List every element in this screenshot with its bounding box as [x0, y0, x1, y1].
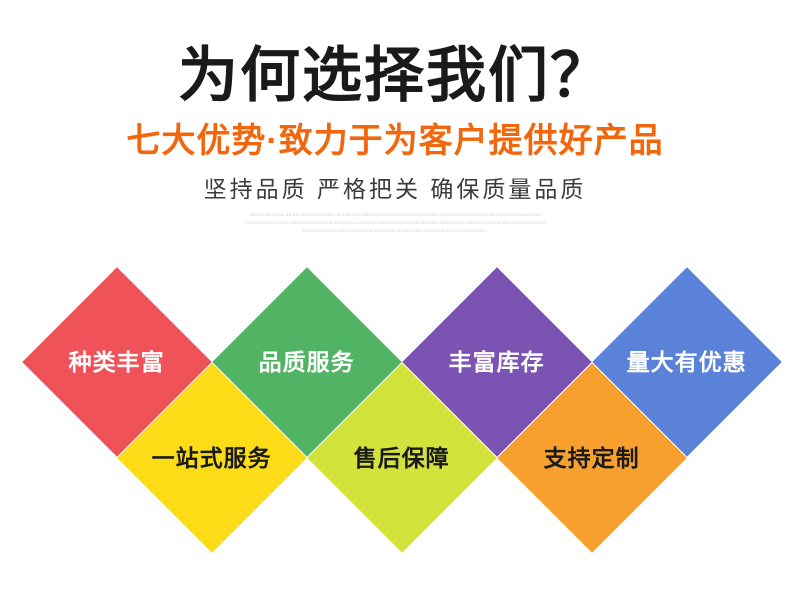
- advantage-label: 售后保障: [354, 447, 450, 470]
- tagline: 坚持品质 严格把关 确保质量品质: [0, 160, 790, 202]
- advantage-label: 种类丰富: [69, 351, 165, 374]
- micro-text-line: VCXXJKLCXXJVLCXHVLXNZLXKCHLXNHCXVJKCLVHC…: [170, 219, 620, 227]
- promo-banner: 为何选择我们？ 七大优势·致力于为客户提供好产品 坚持品质 严格把关 确保质量品…: [0, 0, 790, 604]
- micro-text-block: MULTIFUNCTIONAL ANGLE GRINDERZHCJHKCJKHC…: [170, 202, 620, 235]
- advantages-diamond-grid: 种类丰富 品质服务 丰富库存 量大有优惠 一站式服务 售后保障 支持定制: [0, 270, 790, 604]
- micro-text-line: VCXSLVKCXHLVHLJZXVCLXHVLZXJSLVHCLVCXWLXC…: [170, 227, 620, 235]
- advantage-label: 支持定制: [544, 447, 640, 470]
- advantage-label: 品质服务: [259, 351, 355, 374]
- advantage-label: 一站式服务: [152, 447, 272, 470]
- header-block: 为何选择我们？ 七大优势·致力于为客户提供好产品 坚持品质 严格把关 确保质量品…: [0, 0, 790, 235]
- micro-text-line: MULTIFUNCTIONAL ANGLE GRINDERZHCJHKCJKHC…: [170, 211, 620, 219]
- advantage-label: 量大有优惠: [627, 351, 747, 374]
- page-title: 为何选择我们？: [0, 0, 790, 109]
- advantage-label: 丰富库存: [449, 351, 545, 374]
- page-subtitle: 七大优势·致力于为客户提供好产品: [0, 109, 790, 160]
